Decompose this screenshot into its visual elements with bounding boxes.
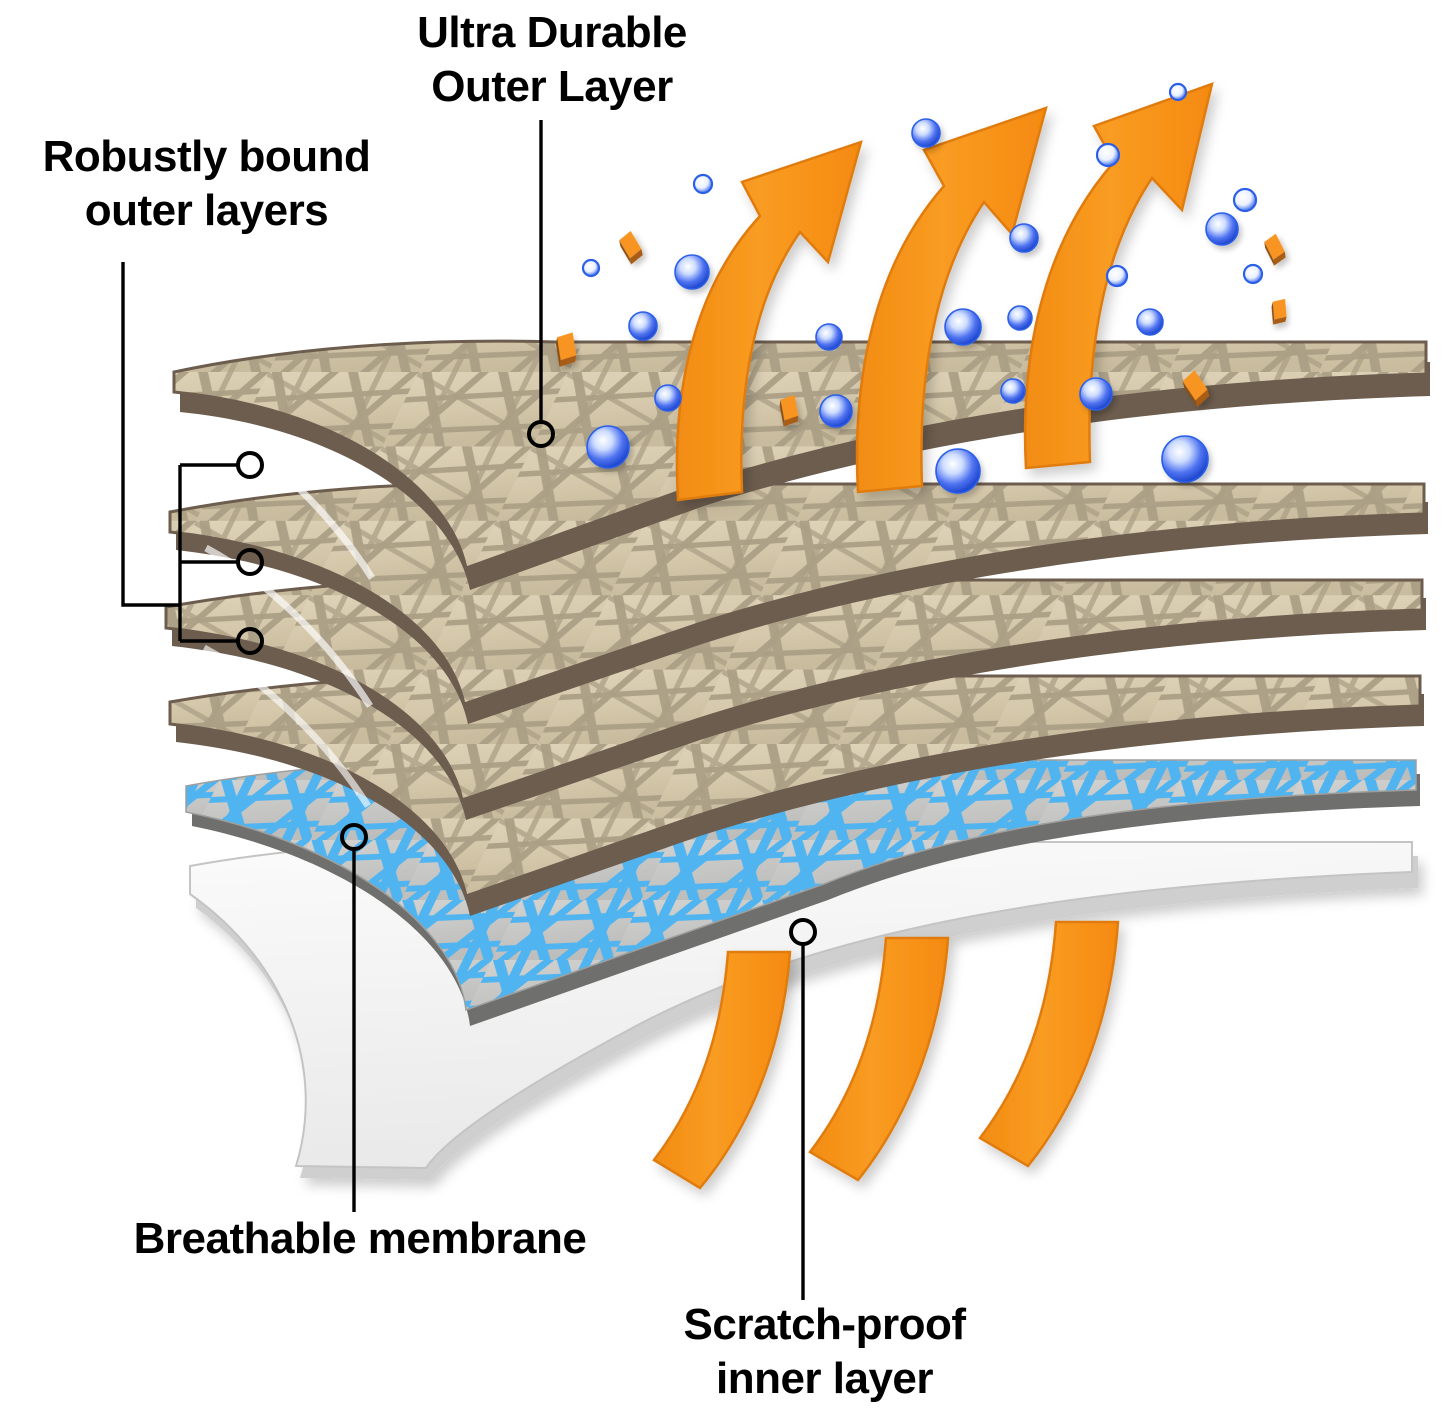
water-droplet-icon	[629, 312, 657, 340]
water-droplet-icon	[1107, 266, 1127, 286]
water-droplet-icon	[945, 309, 981, 345]
water-droplet-icon	[694, 175, 712, 193]
water-droplet-icon	[936, 449, 980, 493]
water-droplet-icon	[1170, 84, 1186, 100]
label-scratch-proof-inner-layer: Scratch-proof inner layer	[612, 1298, 1037, 1405]
water-droplet-icon	[675, 255, 709, 289]
label-ultra-durable-outer-layer: Ultra Durable Outer Layer	[352, 6, 752, 113]
water-droplet-icon	[1001, 379, 1025, 403]
water-droplet-icon	[1097, 144, 1119, 166]
dirt-particle-icon	[1263, 233, 1286, 267]
label-robustly-bound-outer-layers: Robustly bound outer layers	[0, 130, 419, 237]
label-breathable-membrane: Breathable membrane	[55, 1212, 665, 1266]
water-droplet-icon	[1162, 436, 1208, 482]
airflow-band-3	[980, 922, 1118, 1166]
water-droplet-icon	[587, 426, 629, 468]
leader-robustly-bound	[123, 262, 180, 605]
water-droplet-icon	[1080, 378, 1112, 410]
airflow-band-2	[810, 938, 948, 1180]
water-droplet-icon	[583, 260, 599, 276]
water-droplet-icon	[912, 119, 940, 147]
water-droplet-icon	[1010, 224, 1038, 252]
dirt-particle-icon	[1267, 296, 1290, 327]
water-droplet-icon	[1244, 265, 1262, 283]
water-droplet-icon	[1234, 189, 1256, 211]
diagram-canvas: Ultra Durable Outer Layer Robustly bound…	[0, 0, 1445, 1410]
water-droplet-icon	[1206, 213, 1238, 245]
dirt-particle-icon	[618, 229, 644, 265]
water-droplet-icon	[820, 395, 852, 427]
water-droplet-icon	[1137, 309, 1163, 335]
water-droplet-icon	[816, 324, 842, 350]
water-droplet-icon	[1008, 306, 1032, 330]
marker-bond-1	[238, 453, 262, 477]
water-droplet-icon	[655, 385, 681, 411]
